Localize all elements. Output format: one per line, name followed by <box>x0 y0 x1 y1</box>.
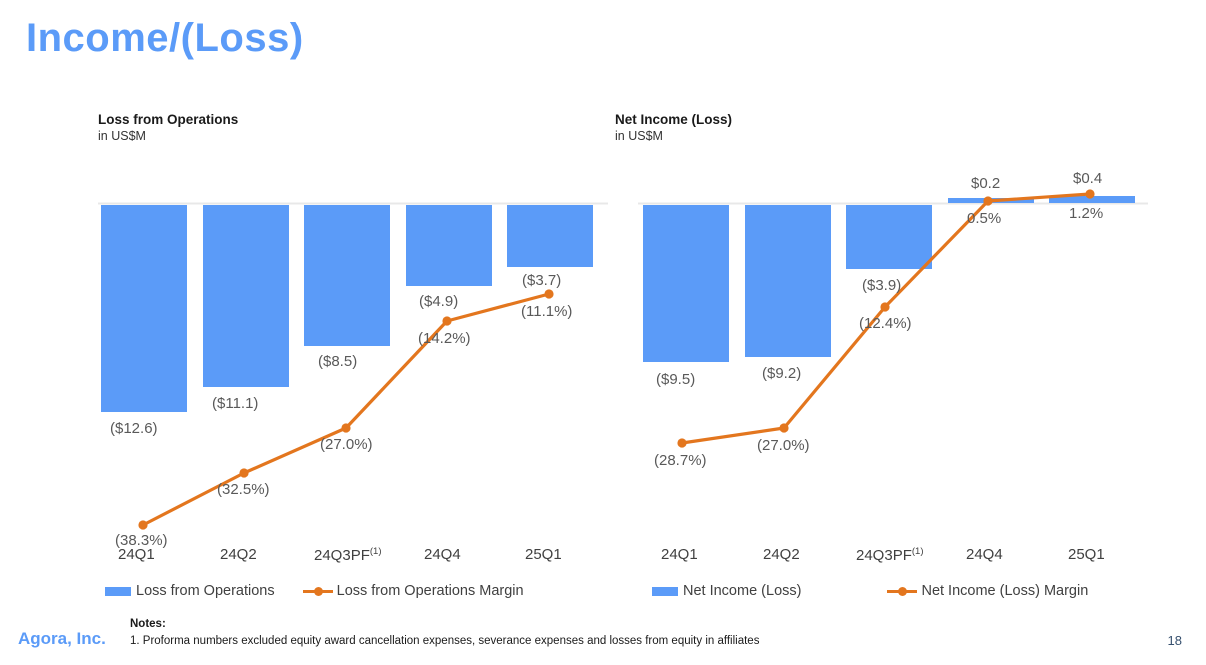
bar-label-24Q4: ($4.9) <box>419 293 458 310</box>
legend-item-label: Loss from Operations <box>136 583 275 599</box>
footnote-marker: (1) <box>912 546 924 557</box>
legend-item-line[interactable]: Net Income (Loss) Margin <box>887 583 1088 599</box>
bar-24Q1 <box>643 205 729 362</box>
bar-25Q1 <box>507 205 593 267</box>
x-axis-label-text: 24Q3PF <box>314 547 370 564</box>
x-axis-label-text: 25Q1 <box>525 546 562 563</box>
x-axis-label-text: 24Q2 <box>763 546 800 563</box>
margin-point-24Q1 <box>677 438 686 447</box>
bar-24Q3PF <box>304 205 390 346</box>
panel-header-net-income-loss: Net Income (Loss) in US$M <box>615 112 1125 144</box>
margin-point-24Q4 <box>983 196 992 205</box>
legend-item-label: Net Income (Loss) <box>683 583 801 599</box>
margin-label-24Q4: (14.2%) <box>418 330 471 347</box>
x-axis-label-24Q1: 24Q1 <box>118 546 155 563</box>
margin-point-25Q1 <box>1085 189 1094 198</box>
bar-24Q2 <box>745 205 831 357</box>
x-axis-label-text: 24Q4 <box>966 546 1003 563</box>
bar-label-24Q4: $0.2 <box>971 175 1000 192</box>
panel-subtitle: in US$M <box>98 129 608 144</box>
margin-label-24Q3PF: (27.0%) <box>320 436 373 453</box>
x-axis-label-25Q1: 25Q1 <box>525 546 562 563</box>
x-axis-label-text: 24Q2 <box>220 546 257 563</box>
bar-label-24Q2: ($11.1) <box>212 395 258 412</box>
company-logo: Agora, Inc. <box>18 629 106 649</box>
legend-item-bar[interactable]: Loss from Operations <box>105 583 275 599</box>
notes-text: 1. Proforma numbers excluded equity awar… <box>130 635 759 647</box>
x-axis-label-text: 25Q1 <box>1068 546 1105 563</box>
panel-title: Net Income (Loss) <box>615 112 1125 128</box>
margin-label-25Q1: 1.2% <box>1069 205 1103 222</box>
bar-label-25Q1: ($3.7) <box>522 272 561 289</box>
bar-24Q1 <box>101 205 187 412</box>
margin-label-24Q1: (28.7%) <box>654 452 707 469</box>
panel-header-loss-from-operations: Loss from Operations in US$M <box>98 112 608 144</box>
bar-24Q4 <box>948 198 1034 203</box>
x-axis-label-24Q4: 24Q4 <box>424 546 461 563</box>
margin-point-24Q2 <box>779 423 788 432</box>
panel-subtitle: in US$M <box>615 129 1125 144</box>
bar-24Q4 <box>406 205 492 286</box>
bar-label-24Q3PF: ($8.5) <box>318 353 357 370</box>
x-axis-label-24Q3PF: 24Q3PF(1) <box>314 546 382 564</box>
margin-point-24Q3PF <box>341 423 350 432</box>
page-number: 18 <box>1168 633 1182 648</box>
bar-24Q3PF <box>846 205 932 269</box>
bar-24Q2 <box>203 205 289 387</box>
bar-label-24Q3PF: ($3.9) <box>862 277 901 294</box>
margin-point-24Q3PF <box>880 302 889 311</box>
page-title: Income/(Loss) <box>26 16 304 61</box>
margin-point-24Q2 <box>239 468 248 477</box>
x-axis-label-24Q1: 24Q1 <box>661 546 698 563</box>
legend-net-income-loss: Net Income (Loss) Net Income (Loss) Marg… <box>652 581 1088 601</box>
margin-point-25Q1 <box>544 289 553 298</box>
legend-bar-swatch-icon <box>652 587 678 596</box>
legend-loss-from-operations: Loss from Operations Loss from Operation… <box>105 581 524 601</box>
charts-canvas <box>0 0 1206 665</box>
x-axis-label-text: 24Q3PF <box>856 547 912 564</box>
margin-point-24Q1 <box>138 520 147 529</box>
x-axis-label-25Q1: 25Q1 <box>1068 546 1105 563</box>
margin-point-24Q4 <box>442 316 451 325</box>
legend-item-label: Net Income (Loss) Margin <box>921 583 1088 599</box>
x-axis-label-24Q2: 24Q2 <box>763 546 800 563</box>
footnote-marker: (1) <box>370 546 382 557</box>
notes-heading: Notes: <box>130 618 166 630</box>
bar-label-25Q1: $0.4 <box>1073 170 1102 187</box>
legend-line-marker-icon <box>303 584 333 598</box>
bar-25Q1 <box>1049 196 1135 203</box>
x-axis-label-24Q3PF: 24Q3PF(1) <box>856 546 924 564</box>
x-axis-label-text: 24Q1 <box>661 546 698 563</box>
margin-label-24Q2: (32.5%) <box>217 481 270 498</box>
x-axis-label-24Q2: 24Q2 <box>220 546 257 563</box>
bar-label-24Q2: ($9.2) <box>762 365 801 382</box>
margin-label-24Q3PF: (12.4%) <box>859 315 912 332</box>
margin-label-24Q2: (27.0%) <box>757 437 810 454</box>
x-axis-label-24Q4: 24Q4 <box>966 546 1003 563</box>
x-axis-label-text: 24Q1 <box>118 546 155 563</box>
legend-item-bar[interactable]: Net Income (Loss) <box>652 583 801 599</box>
bar-label-24Q1: ($9.5) <box>656 371 695 388</box>
margin-label-25Q1: (11.1%) <box>521 303 572 320</box>
legend-item-label: Loss from Operations Margin <box>337 583 524 599</box>
panel-title: Loss from Operations <box>98 112 608 128</box>
margin-label-24Q4: 0.5% <box>967 210 1001 227</box>
margin-line <box>143 294 549 525</box>
legend-line-marker-icon <box>887 584 917 598</box>
x-axis-label-text: 24Q4 <box>424 546 461 563</box>
legend-item-line[interactable]: Loss from Operations Margin <box>303 583 524 599</box>
legend-bar-swatch-icon <box>105 587 131 596</box>
bar-label-24Q1: ($12.6) <box>110 420 158 437</box>
